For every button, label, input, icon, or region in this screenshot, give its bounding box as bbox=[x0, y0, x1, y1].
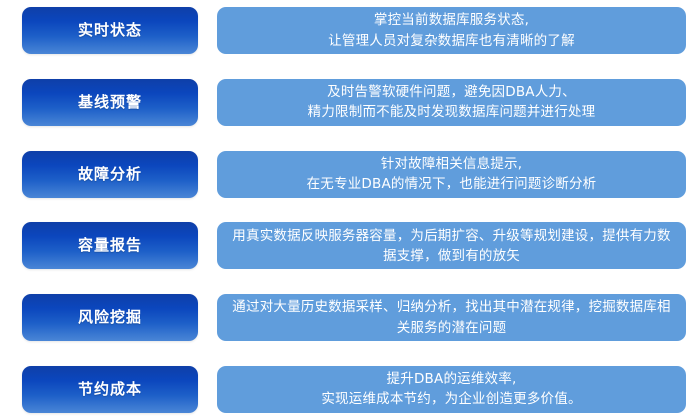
feature-description-box-cost-saving: 提升DBA的运维效率, 实现运维成本节约，为企业创造更多价值。 bbox=[217, 366, 686, 413]
feature-description-text: 用真实数据反映服务器容量，为后期扩容、升级等规划建设，提供有力数据支撑，做到有的… bbox=[231, 226, 672, 267]
feature-label-pill-baseline-alert[interactable]: 基线预警 bbox=[22, 79, 198, 126]
feature-description-text: 针对故障相关信息提示, 在无专业DBA的情况下，也能进行问题诊断分析 bbox=[307, 154, 597, 195]
feature-label-pill-fault-analysis[interactable]: 故障分析 bbox=[22, 151, 198, 198]
feature-row: 实时状态 掌控当前数据库服务状态, 让管理人员对复杂数据库也有清晰的了解 bbox=[22, 7, 686, 54]
feature-row: 风险挖掘 通过对大量历史数据采样、归纳分析，找出其中潜在规律，挖掘数据库相关服务… bbox=[22, 294, 686, 341]
feature-description-text: 提升DBA的运维效率, 实现运维成本节约，为企业创造更多价值。 bbox=[321, 369, 581, 410]
feature-row: 节约成本 提升DBA的运维效率, 实现运维成本节约，为企业创造更多价值。 bbox=[22, 366, 686, 413]
feature-row: 容量报告 用真实数据反映服务器容量，为后期扩容、升级等规划建设，提供有力数据支撑… bbox=[22, 222, 686, 269]
feature-label-pill-realtime-status[interactable]: 实时状态 bbox=[22, 7, 198, 54]
feature-label-text: 基线预警 bbox=[78, 95, 142, 110]
feature-label-text: 容量报告 bbox=[78, 238, 142, 253]
feature-description-box-realtime-status: 掌控当前数据库服务状态, 让管理人员对复杂数据库也有清晰的了解 bbox=[217, 7, 686, 54]
feature-description-box-baseline-alert: 及时告警软硬件问题，避免因DBA人力、 精力限制而不能及时发现数据库问题并进行处… bbox=[217, 79, 686, 126]
feature-description-box-capacity-report: 用真实数据反映服务器容量，为后期扩容、升级等规划建设，提供有力数据支撑，做到有的… bbox=[217, 222, 686, 269]
feature-list: 实时状态 掌控当前数据库服务状态, 让管理人员对复杂数据库也有清晰的了解 基线预… bbox=[0, 0, 694, 420]
feature-description-text: 通过对大量历史数据采样、归纳分析，找出其中潜在规律，挖掘数据库相关服务的潜在问题 bbox=[231, 297, 672, 338]
feature-description-box-risk-mining: 通过对大量历史数据采样、归纳分析，找出其中潜在规律，挖掘数据库相关服务的潜在问题 bbox=[217, 294, 686, 341]
feature-label-text: 实时状态 bbox=[78, 23, 142, 38]
feature-label-pill-capacity-report[interactable]: 容量报告 bbox=[22, 222, 198, 269]
feature-label-text: 节约成本 bbox=[78, 382, 142, 397]
feature-label-text: 风险挖掘 bbox=[78, 310, 142, 325]
feature-label-pill-risk-mining[interactable]: 风险挖掘 bbox=[22, 294, 198, 341]
feature-row: 故障分析 针对故障相关信息提示, 在无专业DBA的情况下，也能进行问题诊断分析 bbox=[22, 151, 686, 198]
feature-row: 基线预警 及时告警软硬件问题，避免因DBA人力、 精力限制而不能及时发现数据库问… bbox=[22, 79, 686, 126]
feature-label-pill-cost-saving[interactable]: 节约成本 bbox=[22, 366, 198, 413]
feature-description-box-fault-analysis: 针对故障相关信息提示, 在无专业DBA的情况下，也能进行问题诊断分析 bbox=[217, 151, 686, 198]
feature-description-text: 及时告警软硬件问题，避免因DBA人力、 精力限制而不能及时发现数据库问题并进行处… bbox=[308, 82, 596, 123]
feature-label-text: 故障分析 bbox=[78, 167, 142, 182]
feature-description-text: 掌控当前数据库服务状态, 让管理人员对复杂数据库也有清晰的了解 bbox=[328, 10, 575, 51]
